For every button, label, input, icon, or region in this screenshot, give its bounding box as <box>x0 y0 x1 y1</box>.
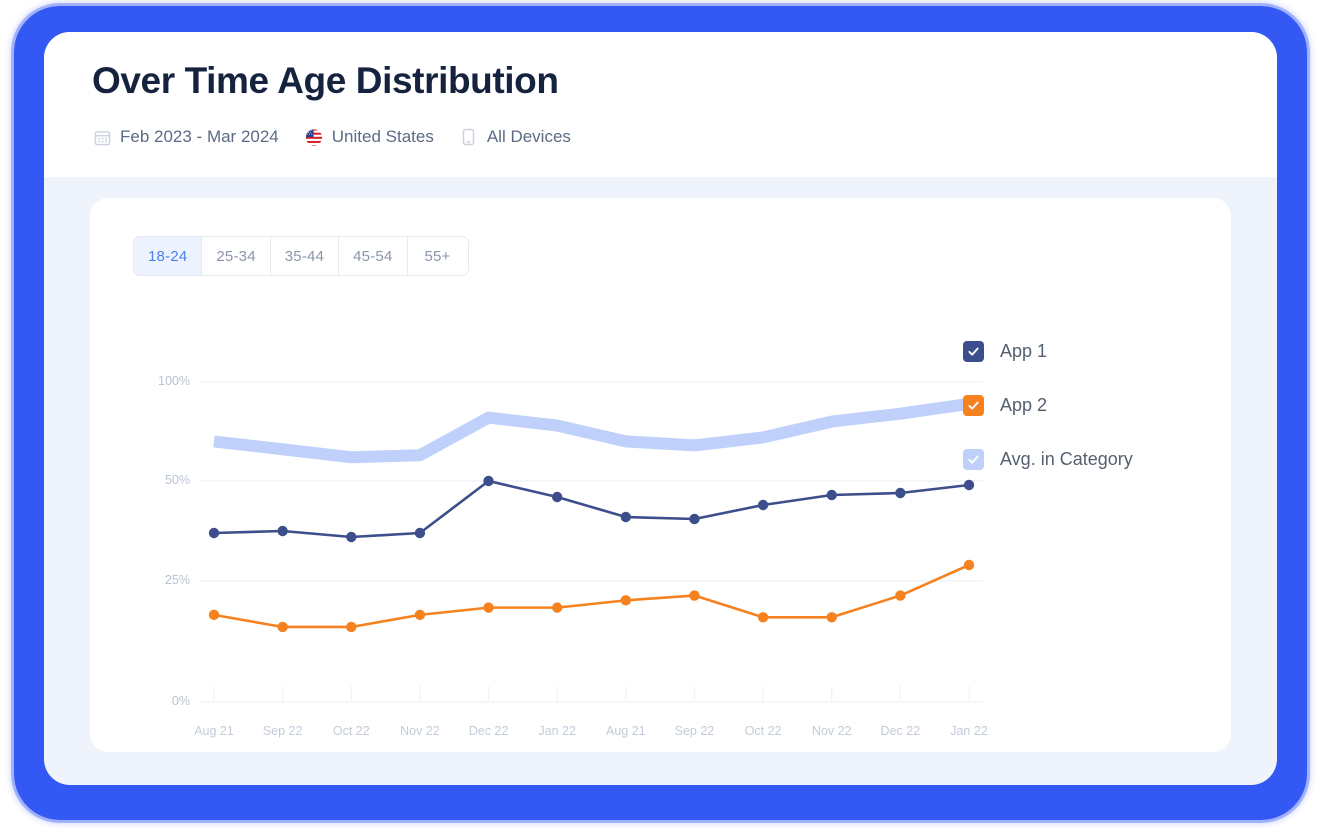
data-point[interactable] <box>277 526 287 536</box>
line-chart: 0%25%50%100% Aug 21Sep 22Oct 22Nov 22Dec… <box>90 198 1231 752</box>
data-point[interactable] <box>277 622 287 632</box>
y-axis-tick-label: 100% <box>144 374 190 388</box>
x-axis-tick-label: Sep 22 <box>675 724 715 738</box>
x-axis-tick-label: Aug 21 <box>606 724 646 738</box>
legend-item-app-1[interactable]: App 1 <box>963 341 1133 362</box>
y-axis-tick-label: 50% <box>144 473 190 487</box>
data-point[interactable] <box>346 622 356 632</box>
data-point[interactable] <box>689 590 699 600</box>
series-line-avg-in-category <box>214 404 969 457</box>
data-point[interactable] <box>415 610 425 620</box>
check-icon <box>967 453 980 466</box>
filter-date-range-label: Feb 2023 - Mar 2024 <box>120 127 279 147</box>
us-flag-icon <box>305 128 323 146</box>
legend-item-avg-in-category[interactable]: Avg. in Category <box>963 449 1133 470</box>
legend-label-app-1: App 1 <box>1000 341 1047 362</box>
page-title: Over Time Age Distribution <box>92 60 559 102</box>
x-axis-tick-label: Nov 22 <box>812 724 852 738</box>
legend-label-avg-in-category: Avg. in Category <box>1000 449 1133 470</box>
data-point[interactable] <box>758 500 768 510</box>
data-point[interactable] <box>689 514 699 524</box>
chart-card: 18-24 25-34 35-44 45-54 55+ 0%25%50%100%… <box>90 198 1231 752</box>
x-axis-tick-label: Jan 22 <box>538 724 576 738</box>
x-axis-tick-label: Oct 22 <box>745 724 782 738</box>
check-icon <box>967 399 980 412</box>
data-point[interactable] <box>621 512 631 522</box>
filter-country[interactable]: United States <box>305 127 434 147</box>
check-icon <box>967 345 980 358</box>
data-point[interactable] <box>346 532 356 542</box>
data-point[interactable] <box>552 602 562 612</box>
app-panel: Over Time Age Distribution <box>44 32 1277 785</box>
data-point[interactable] <box>827 612 837 622</box>
data-point[interactable] <box>964 480 974 490</box>
chart-legend: App 1 App 2 Avg. <box>963 341 1133 470</box>
x-axis-tick-label: Oct 22 <box>333 724 370 738</box>
calendar-icon <box>93 128 111 146</box>
data-point[interactable] <box>895 590 905 600</box>
legend-label-app-2: App 2 <box>1000 395 1047 416</box>
checkbox-app-1[interactable] <box>963 341 984 362</box>
filter-device[interactable]: All Devices <box>460 127 571 147</box>
x-axis-tick-label: Aug 21 <box>194 724 234 738</box>
data-point[interactable] <box>552 492 562 502</box>
data-point[interactable] <box>621 595 631 605</box>
y-axis-tick-label: 25% <box>144 573 190 587</box>
x-axis-tick-label: Nov 22 <box>400 724 440 738</box>
series-line-app-1 <box>214 481 969 537</box>
data-point[interactable] <box>209 528 219 538</box>
chart-canvas <box>90 198 1231 752</box>
data-point[interactable] <box>827 490 837 500</box>
filter-date-range[interactable]: Feb 2023 - Mar 2024 <box>93 127 279 147</box>
checkbox-avg-in-category[interactable] <box>963 449 984 470</box>
x-axis-tick-label: Sep 22 <box>263 724 303 738</box>
legend-item-app-2[interactable]: App 2 <box>963 395 1133 416</box>
device-icon <box>460 128 478 146</box>
data-point[interactable] <box>483 602 493 612</box>
series-line-app-2 <box>214 565 969 627</box>
x-axis-tick-label: Dec 22 <box>469 724 509 738</box>
data-point[interactable] <box>895 488 905 498</box>
data-point[interactable] <box>209 610 219 620</box>
page-header: Over Time Age Distribution <box>44 32 1277 177</box>
filter-country-label: United States <box>332 127 434 147</box>
y-axis-tick-label: 0% <box>144 694 190 708</box>
filter-device-label: All Devices <box>487 127 571 147</box>
data-point[interactable] <box>483 476 493 486</box>
data-point[interactable] <box>415 528 425 538</box>
screenshot-root: Over Time Age Distribution <box>0 0 1321 832</box>
x-axis-tick-label: Jan 22 <box>950 724 988 738</box>
data-point[interactable] <box>758 612 768 622</box>
checkbox-app-2[interactable] <box>963 395 984 416</box>
x-axis-tick-label: Dec 22 <box>881 724 921 738</box>
report-filters: Feb 2023 - Mar 2024 <box>93 127 571 147</box>
data-point[interactable] <box>964 560 974 570</box>
